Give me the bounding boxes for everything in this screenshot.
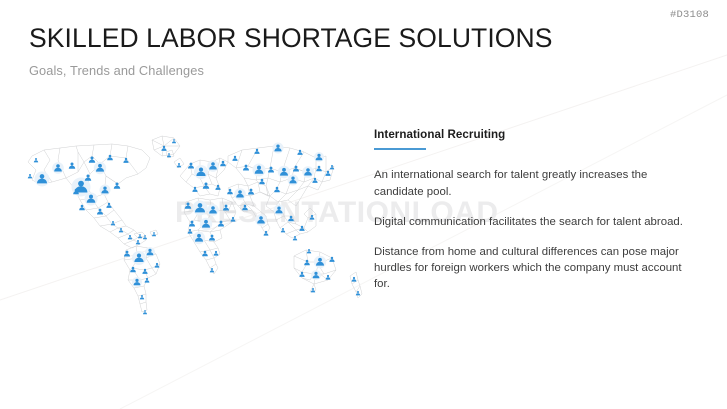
person-node-icon <box>143 310 147 314</box>
page-subtitle: Goals, Trends and Challenges <box>29 63 553 78</box>
person-node-icon <box>274 187 280 193</box>
person-node-icon <box>130 267 136 273</box>
person-node-icon <box>124 251 130 257</box>
person-node-icon <box>79 205 85 211</box>
person-node-icon <box>314 256 326 268</box>
person-node-icon <box>193 201 208 216</box>
person-node-icon <box>218 221 224 227</box>
person-node-icon <box>232 156 237 161</box>
map-mesh-layer <box>28 136 362 312</box>
body-paragraph: An international search for talent great… <box>374 167 694 199</box>
person-node-icon <box>234 188 246 200</box>
person-node-icon <box>314 152 324 162</box>
person-node-icon <box>329 257 334 262</box>
person-node-icon <box>193 232 205 244</box>
body-paragraph: Distance from home and cultural differen… <box>374 244 694 293</box>
world-map-svg <box>14 128 374 318</box>
body-paragraph: Digital communication facilitates the se… <box>374 214 694 230</box>
person-node-icon <box>69 163 75 169</box>
person-node-icon <box>278 166 290 178</box>
person-node-icon <box>299 272 304 277</box>
slide-canvas: { "slide": { "code": "#D3108", "title": … <box>0 0 727 409</box>
content-heading: International Recruiting <box>374 128 694 141</box>
person-node-icon <box>326 275 331 280</box>
page-title: SKILLED LABOR SHORTAGE SOLUTIONS <box>29 24 553 54</box>
person-node-icon <box>209 235 215 241</box>
heading-accent-rule <box>374 148 426 150</box>
person-node-icon <box>152 232 156 236</box>
person-node-icon <box>281 228 285 232</box>
person-node-icon <box>293 236 297 240</box>
person-node-icon <box>307 249 311 253</box>
person-node-icon <box>106 203 111 208</box>
person-node-icon <box>255 214 267 226</box>
person-node-icon <box>254 149 259 154</box>
person-node-icon <box>242 205 248 211</box>
person-node-icon <box>288 175 299 186</box>
person-node-icon <box>311 270 321 280</box>
person-node-icon <box>140 295 144 299</box>
person-node-icon <box>28 174 32 178</box>
person-node-icon <box>227 189 233 195</box>
person-node-icon <box>268 167 274 173</box>
person-node-icon <box>200 218 212 230</box>
person-node-icon <box>155 263 160 268</box>
person-node-icon <box>299 226 304 231</box>
person-node-icon <box>310 215 315 220</box>
person-node-icon <box>142 269 147 274</box>
person-node-icon <box>97 209 103 215</box>
person-node-icon <box>207 204 219 216</box>
person-node-icon <box>143 235 147 239</box>
person-node-icon <box>52 162 64 174</box>
person-node-icon <box>132 277 142 287</box>
person-node-icon <box>85 193 98 206</box>
person-node-icon <box>253 164 266 177</box>
person-node-icon <box>132 251 146 265</box>
person-node-icon <box>85 175 91 181</box>
person-node-icon <box>207 160 219 172</box>
slide-code-label: #D3108 <box>670 9 709 21</box>
person-node-icon <box>94 162 106 174</box>
person-node-icon <box>352 277 357 282</box>
person-node-icon <box>136 240 140 244</box>
person-node-icon <box>273 143 284 154</box>
person-node-icon <box>114 183 120 189</box>
person-node-icon <box>35 172 50 187</box>
person-node-icon <box>145 247 155 257</box>
person-node-icon <box>100 185 111 196</box>
map-node-layer <box>28 139 360 314</box>
slide-header: SKILLED LABOR SHORTAGE SOLUTIONS Goals, … <box>29 24 553 78</box>
person-node-icon <box>223 205 229 211</box>
person-node-icon <box>194 165 208 179</box>
person-node-icon <box>288 216 294 222</box>
person-node-icon <box>220 161 226 167</box>
content-block: International Recruiting An internationa… <box>374 128 694 293</box>
world-network-map <box>14 128 374 318</box>
person-node-icon <box>177 163 181 167</box>
person-node-icon <box>128 235 132 239</box>
person-node-icon <box>302 166 314 178</box>
person-node-icon <box>34 158 38 162</box>
person-node-icon <box>231 217 236 222</box>
person-node-icon <box>214 251 219 256</box>
person-node-icon <box>274 205 285 216</box>
